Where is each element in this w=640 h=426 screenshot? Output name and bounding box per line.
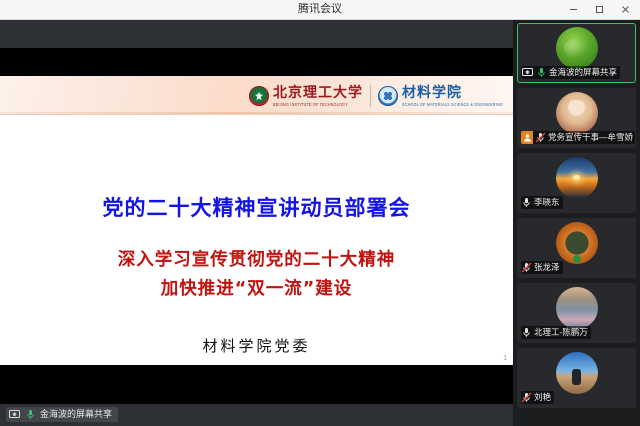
- screen-share-icon: [521, 66, 534, 79]
- bit-logo: 北京理工大学 BEIJING INSTITUTE OF TECHNOLOGY: [249, 86, 363, 107]
- tencent-meeting-window: 腾讯会议 北京理工大学 BE: [0, 0, 640, 426]
- participant-tile[interactable]: 刘艳: [517, 348, 636, 408]
- screen-share-label: 金海波的屏幕共享: [40, 410, 112, 419]
- participant-label: 张龙泽: [521, 261, 563, 274]
- window-controls: [560, 0, 638, 19]
- participant-label: 北理工-陈鹏万: [521, 326, 591, 339]
- mic-muted-icon: [535, 131, 546, 144]
- screen-share-icon: [8, 408, 21, 421]
- participant-tile[interactable]: 张龙泽: [517, 218, 636, 278]
- school-name-en: SCHOOL OF MATERIALS SCIENCE & ENGINEERIN…: [402, 101, 503, 109]
- participant-label: 党务宣传干事—牟雪娇: [521, 131, 636, 144]
- minimize-button[interactable]: [560, 0, 586, 19]
- mic-muted-icon: [521, 391, 532, 404]
- bit-emblem-icon: [249, 86, 269, 106]
- participant-label: 金海波的屏幕共享: [521, 66, 620, 79]
- school-emblem-icon: [378, 86, 398, 106]
- mic-on-icon: [25, 408, 36, 421]
- stage-letterbox-bottom: [0, 365, 513, 404]
- logo-divider: [370, 85, 371, 107]
- avatar: [556, 92, 598, 134]
- presentation-slide: 北京理工大学 BEIJING INSTITUTE OF TECHNOLOGY 材…: [0, 76, 513, 365]
- avatar: [556, 352, 598, 394]
- participant-name: 党务宣传干事—牟雪娇: [548, 133, 633, 142]
- avatar: [556, 287, 598, 329]
- participant-name: 张龙泽: [534, 263, 560, 272]
- stage-letterbox-top: [0, 48, 513, 76]
- mic-on-icon: [521, 196, 532, 209]
- avatar: [556, 27, 598, 69]
- screen-share-status[interactable]: 金海波的屏幕共享: [6, 407, 118, 422]
- participant-tile[interactable]: 金海波的屏幕共享: [517, 23, 636, 83]
- bottom-status-bar: 金海波的屏幕共享: [0, 404, 513, 426]
- participant-tile[interactable]: 李晓东: [517, 153, 636, 213]
- participant-sidebar[interactable]: 金海波的屏幕共享 党务宣传干事—牟雪娇 李晓东: [513, 20, 640, 426]
- slide-main-title: 党的二十大精神宣讲动员部署会: [0, 192, 513, 222]
- shared-screen-stage[interactable]: 北京理工大学 BEIJING INSTITUTE OF TECHNOLOGY 材…: [0, 20, 513, 404]
- slide-presenter: 材料学院党委: [0, 335, 513, 356]
- participant-name: 刘艳: [534, 393, 551, 402]
- participant-name: 金海波的屏幕共享: [549, 68, 617, 77]
- mic-muted-icon: [521, 261, 532, 274]
- maximize-button[interactable]: [586, 0, 612, 19]
- participant-name: 北理工-陈鹏万: [534, 328, 588, 337]
- bit-logo-text: 北京理工大学 BEIJING INSTITUTE OF TECHNOLOGY: [273, 86, 363, 107]
- slide-page-number: 1: [503, 355, 507, 362]
- slide-header-band: 北京理工大学 BEIJING INSTITUTE OF TECHNOLOGY 材…: [0, 76, 513, 115]
- school-logo: 材料学院 SCHOOL OF MATERIALS SCIENCE & ENGIN…: [378, 86, 503, 107]
- avatar: [556, 157, 598, 199]
- school-name-cn: 材料学院: [402, 86, 503, 101]
- close-button[interactable]: [612, 0, 638, 19]
- slide-subtitle-line-2: 加快推进“双一流”建设: [0, 275, 513, 300]
- participant-tile[interactable]: 北理工-陈鹏万: [517, 283, 636, 343]
- school-logo-text: 材料学院 SCHOOL OF MATERIALS SCIENCE & ENGIN…: [402, 86, 503, 107]
- mic-on-icon: [536, 66, 547, 79]
- window-title: 腾讯会议: [0, 0, 640, 19]
- mic-on-icon: [521, 326, 532, 339]
- slide-logos: 北京理工大学 BEIJING INSTITUTE OF TECHNOLOGY 材…: [249, 81, 503, 111]
- slide-body: 党的二十大精神宣讲动员部署会 深入学习宣传贯彻党的二十大精神 加快推进“双一流”…: [0, 115, 513, 365]
- participant-name: 李晓东: [534, 198, 560, 207]
- slide-subtitle-line-1: 深入学习宣传贯彻党的二十大精神: [0, 246, 513, 271]
- participant-label: 刘艳: [521, 391, 554, 404]
- bit-name-en: BEIJING INSTITUTE OF TECHNOLOGY: [273, 101, 363, 109]
- bit-name-cn: 北京理工大学: [273, 86, 363, 101]
- avatar: [556, 222, 598, 264]
- participant-label: 李晓东: [521, 196, 563, 209]
- title-bar: 腾讯会议: [0, 0, 640, 20]
- host-badge-icon: [521, 131, 533, 144]
- participant-tile[interactable]: 党务宣传干事—牟雪娇: [517, 88, 636, 148]
- stage-top-chrome: [0, 20, 513, 48]
